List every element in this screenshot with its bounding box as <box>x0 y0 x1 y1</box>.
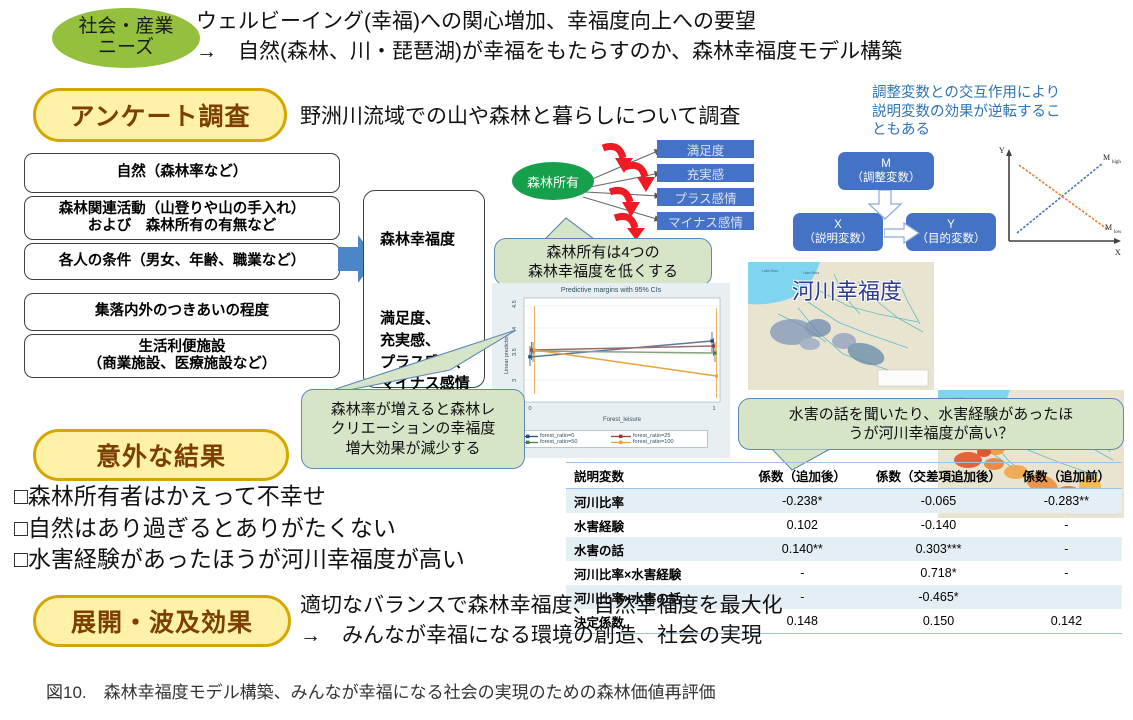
social-needs-line2: ニーズ <box>98 38 154 59</box>
svg-text:Forest_leisure: Forest_leisure <box>603 417 642 423</box>
cell-var: 水害経験 <box>566 513 738 537</box>
cell-before: - <box>1011 561 1122 585</box>
svg-text:low: low <box>1114 230 1122 235</box>
interaction-mini-chart: Y X M high M low <box>995 145 1127 257</box>
svg-text:M: M <box>1103 153 1110 162</box>
cell-before: 0.142 <box>1011 609 1122 634</box>
results-pill-label: 意外な結果 <box>96 437 226 473</box>
svg-text:Y: Y <box>999 146 1005 155</box>
survey-pill: アンケート調査 <box>33 88 287 142</box>
cell-inter: 0.150 <box>866 609 1011 634</box>
figure-caption: 図10. 森林幸福度モデル構築、みんなが幸福になる社会の実現のための森林価値再評… <box>46 678 716 703</box>
chip-positive-emotion: プラス感情 <box>657 188 754 206</box>
cell-before: - <box>1011 513 1122 537</box>
forest-ownership-label: 森林所有 <box>527 172 579 191</box>
cell-inter: 0.718* <box>866 561 1011 585</box>
spacer <box>380 272 472 286</box>
svg-text:Lake Biwa: Lake Biwa <box>762 269 778 273</box>
chip-negative-emotion: マイナス感情 <box>657 212 754 230</box>
chip-fulfillment: 充実感 <box>657 164 754 182</box>
th-coef-after: 係数（追加後） <box>738 463 866 489</box>
cell-var: 河川比率 <box>566 489 738 514</box>
poster-canvas: 社会・産業 ニーズ ウェルビーイング(幸福)への関心増加、幸福度向上への要望 →… <box>0 0 1133 720</box>
outlook-pill-label: 展開・波及効果 <box>71 603 253 639</box>
outlook-line1: 適切なバランスで森林幸福度、自然幸福度を最大化 <box>300 592 783 620</box>
cell-inter: -0.465* <box>866 585 1011 609</box>
moderator-x-label: X <box>834 218 842 232</box>
cell-var: 河川比率×水害経験 <box>566 561 738 585</box>
moderator-y-sub: （目的変数） <box>917 232 986 246</box>
svg-text:X: X <box>1115 248 1121 257</box>
factor-box-nature: 自然（森林率など） <box>24 153 340 193</box>
chart-legend: forest_ratio=0 forest_ratio=25 forest_ra… <box>514 430 708 448</box>
survey-description: 野洲川流域での山や森林と暮らしについて調査 <box>300 100 740 130</box>
social-needs-badge: 社会・産業 ニーズ <box>52 8 200 68</box>
callout-ownership: 森林所有は4つの 森林幸福度を低くする <box>494 238 712 286</box>
table-row: 水害経験 0.102 -0.140 - <box>566 513 1122 537</box>
chart-title: Predictive margins with 95% CIs <box>496 287 726 294</box>
factor-box-personal: 各人の条件（男女、年齢、職業など） <box>24 243 340 280</box>
table-row: 水害の話 0.140** 0.303*** - <box>566 537 1122 561</box>
moderation-note: 調整変数との交互作用により 説明変数の効果が逆転するこ ともある <box>872 84 1097 140</box>
table-header-row: 説明変数 係数（追加後） 係数（交差項追加後） 係数（追加前） <box>566 463 1122 489</box>
svg-text:0: 0 <box>528 406 531 412</box>
moderator-box-m: M （調整変数） <box>838 152 934 190</box>
moderator-m-sub: （調整変数） <box>852 171 921 185</box>
legend-swatch-ratio25 <box>611 434 631 439</box>
outlook-pill: 展開・波及効果 <box>33 595 291 647</box>
cell-before: -0.283** <box>1011 489 1122 514</box>
chart-plot-area: 3 3.5 4 4.5 Linear prediction <box>496 294 726 424</box>
cell-before <box>1011 585 1122 609</box>
cell-var: 水害の話 <box>566 537 738 561</box>
factor-box-facilities: 生活利便施設 （商業施設、医療施設など） <box>24 334 340 378</box>
map-river-happiness: Lake Biwa Lake Biwa 河川幸福度 <box>748 262 934 390</box>
svg-text:1: 1 <box>712 406 715 412</box>
cell-inter: -0.065 <box>866 489 1011 514</box>
cell-after: 0.140** <box>738 537 866 561</box>
moderator-m-label: M <box>881 157 891 171</box>
headline-line1: ウェルビーイング(幸福)への関心増加、幸福度向上への要望 <box>196 8 756 36</box>
svg-text:M: M <box>1105 223 1112 232</box>
table-row: 河川比率×水害経験 - 0.718* - <box>566 561 1122 585</box>
cell-inter: -0.140 <box>866 513 1011 537</box>
results-bullets: □森林所有者はかえって不幸せ □自然はあり過ぎるとありがたくない □水害経験があ… <box>14 481 534 576</box>
social-needs-line1: 社会・産業 <box>78 17 173 38</box>
legend-label-ratio50: forest_ratio=50 <box>540 439 577 445</box>
th-coef-interaction: 係数（交差項追加後） <box>866 463 1011 489</box>
cell-after: -0.238* <box>738 489 866 514</box>
forest-happiness-title: 森林幸福度 <box>380 229 472 251</box>
headline-line2: → 自然(森林、川・琵琶湖)が幸福をもたらすのか、森林幸福度モデル構築 <box>196 38 902 66</box>
svg-text:high: high <box>1112 160 1121 165</box>
table-row: 河川比率 -0.238* -0.065 -0.283** <box>566 489 1122 514</box>
moderator-x-sub: （説明変数） <box>804 232 873 246</box>
factor-box-forest-activity: 森林関連活動（山登りや山の手入れ） および 森林所有の有無など <box>24 196 340 240</box>
moderation-down-arrow-icon <box>868 190 906 220</box>
chip-satisfaction: 満足度 <box>657 140 754 158</box>
legend-label-ratio100: forest_ratio=100 <box>633 439 674 445</box>
moderator-y-label: Y <box>947 218 955 232</box>
cell-after: - <box>738 561 866 585</box>
map-label-river: 河川幸福度 <box>792 274 902 306</box>
cell-before: - <box>1011 537 1122 561</box>
th-coef-before: 係数（追加前） <box>1011 463 1122 489</box>
moderation-right-arrow-icon <box>884 222 920 244</box>
callout-forest-ratio: 森林率が増えると森林レ クリエーションの幸福度 増大効果が減少する <box>301 389 525 469</box>
cell-inter: 0.303*** <box>866 537 1011 561</box>
results-pill: 意外な結果 <box>33 429 289 481</box>
factor-box-community: 集落内外のつきあいの程度 <box>24 293 340 331</box>
forest-ownership-oval: 森林所有 <box>512 162 594 200</box>
cell-after: 0.102 <box>738 513 866 537</box>
svg-text:4.5: 4.5 <box>512 300 518 308</box>
outlook-line2: → みんなが幸福になる環境の創造、社会の実現 <box>300 622 762 650</box>
legend-swatch-ratio100 <box>611 440 631 445</box>
th-variable: 説明変数 <box>566 463 738 489</box>
survey-pill-label: アンケート調査 <box>69 97 250 133</box>
callout-flood: 水害の話を聞いたり、水害経験があったほ うが河川幸福度が高い？ <box>738 398 1124 450</box>
